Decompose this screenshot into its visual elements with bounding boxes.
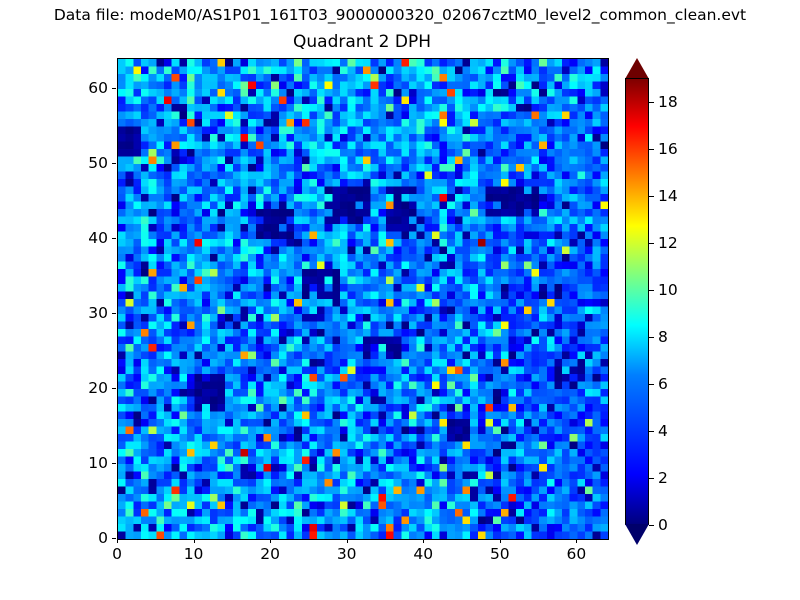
colorbar-tick-mark — [649, 102, 654, 103]
colorbar-tick-label: 4 — [658, 422, 668, 440]
x-tick-label: 0 — [112, 545, 122, 563]
colorbar-tick-label: 2 — [658, 469, 668, 487]
heatmap-image[interactable] — [118, 59, 608, 539]
y-tick-mark — [112, 163, 116, 164]
y-tick-label: 0 — [98, 529, 108, 547]
y-tick-mark — [112, 88, 116, 89]
colorbar-tick-label: 14 — [658, 187, 678, 205]
colorbar-tick-mark — [649, 431, 654, 432]
x-tick-mark — [194, 539, 195, 543]
colorbar-under-arrow-icon — [625, 524, 649, 545]
x-tick-mark — [576, 539, 577, 543]
colorbar-tick-mark — [649, 290, 654, 291]
colorbar-tick-mark — [649, 149, 654, 150]
y-tick-label: 40 — [88, 229, 108, 247]
colorbar-tick-mark — [649, 243, 654, 244]
x-tick-mark — [500, 539, 501, 543]
x-tick-label: 10 — [184, 545, 204, 563]
colorbar-tick-mark — [649, 196, 654, 197]
colorbar-tick-label: 8 — [658, 328, 668, 346]
colorbar-tick-mark — [649, 384, 654, 385]
y-tick-label: 30 — [88, 304, 108, 322]
x-tick-mark — [347, 539, 348, 543]
y-tick-label: 50 — [88, 154, 108, 172]
x-tick-mark — [423, 539, 424, 543]
colorbar-tick-mark — [649, 525, 654, 526]
colorbar-gradient — [626, 79, 648, 524]
colorbar-tick-label: 6 — [658, 375, 668, 393]
y-tick-mark — [112, 463, 116, 464]
figure-canvas: Data file: modeM0/AS1P01_161T03_90000003… — [0, 0, 800, 600]
x-tick-mark — [270, 539, 271, 543]
y-tick-mark — [112, 538, 116, 539]
colorbar-tick-label: 0 — [658, 516, 668, 534]
y-tick-mark — [112, 388, 116, 389]
colorbar[interactable] — [625, 58, 649, 545]
colorbar-tick-mark — [649, 337, 654, 338]
colorbar-tick-label: 18 — [658, 93, 678, 111]
heatmap-axes[interactable] — [117, 58, 609, 540]
x-tick-label: 20 — [260, 545, 280, 563]
y-tick-label: 10 — [88, 454, 108, 472]
colorbar-body[interactable] — [625, 78, 649, 525]
y-tick-label: 20 — [88, 379, 108, 397]
x-tick-label: 50 — [490, 545, 510, 563]
x-tick-mark — [117, 539, 118, 543]
y-tick-mark — [112, 238, 116, 239]
y-tick-label: 60 — [88, 79, 108, 97]
x-tick-label: 60 — [567, 545, 587, 563]
chart-title: Quadrant 2 DPH — [117, 32, 607, 53]
colorbar-tick-label: 10 — [658, 281, 678, 299]
colorbar-tick-label: 16 — [658, 140, 678, 158]
data-file-label: Data file: modeM0/AS1P01_161T03_90000003… — [0, 6, 800, 25]
colorbar-tick-mark — [649, 478, 654, 479]
x-tick-label: 40 — [413, 545, 433, 563]
colorbar-tick-label: 12 — [658, 234, 678, 252]
colorbar-over-arrow-icon — [625, 58, 649, 79]
y-tick-mark — [112, 313, 116, 314]
x-tick-label: 30 — [337, 545, 357, 563]
